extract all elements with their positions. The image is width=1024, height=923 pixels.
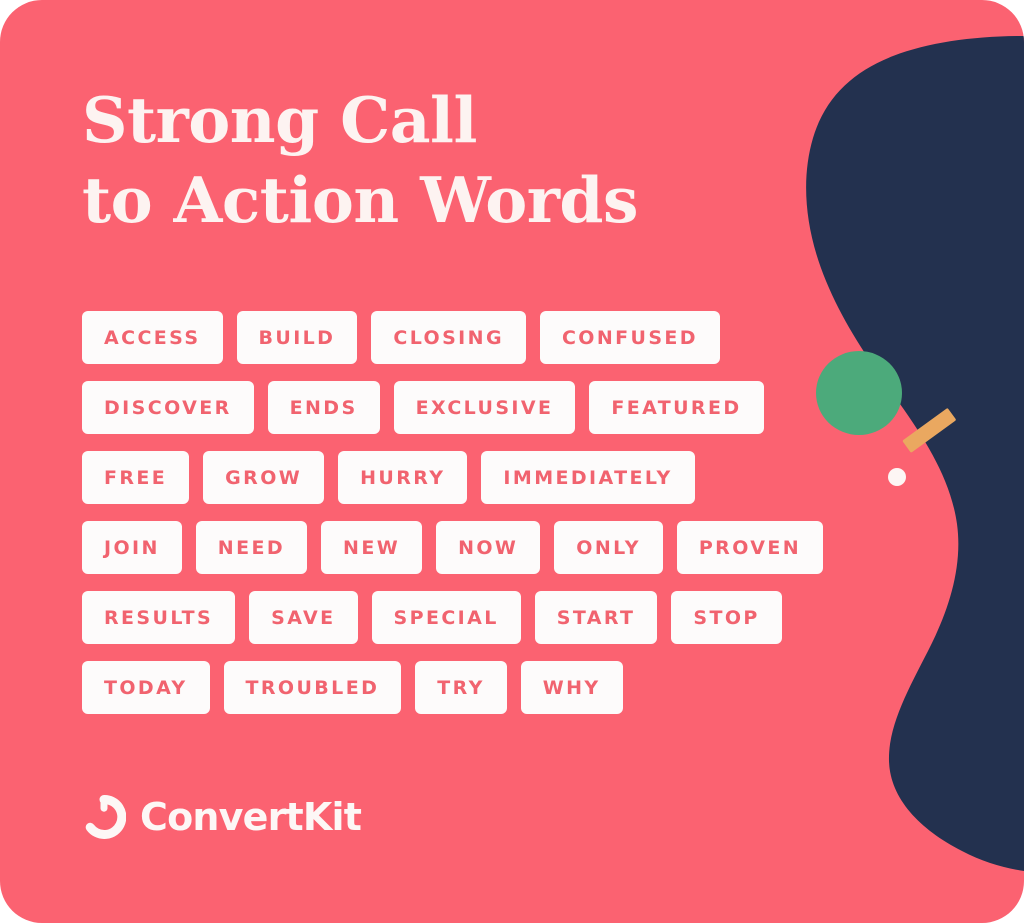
brand-logo: ConvertKit	[82, 795, 361, 839]
word-pill-why[interactable]: WHY	[521, 661, 623, 714]
word-pill-featured[interactable]: FEATURED	[589, 381, 763, 434]
poster-canvas: Strong Call to Action Words ACCESS BUILD…	[0, 0, 1024, 923]
word-pill-now[interactable]: NOW	[436, 521, 540, 574]
word-pill-ends[interactable]: ENDS	[268, 381, 380, 434]
word-row: DISCOVER ENDS EXCLUSIVE FEATURED	[82, 381, 822, 434]
brand-name-label: ConvertKit	[140, 798, 361, 836]
word-pill-access[interactable]: ACCESS	[82, 311, 223, 364]
navy-blob-shape	[806, 36, 1024, 871]
word-row: RESULTS SAVE SPECIAL START STOP	[82, 591, 822, 644]
convertkit-ring-icon	[82, 795, 126, 839]
word-pill-new[interactable]: NEW	[321, 521, 422, 574]
word-pill-confused[interactable]: CONFUSED	[540, 311, 720, 364]
word-pill-grow[interactable]: GROW	[203, 451, 324, 504]
word-pill-stop[interactable]: STOP	[671, 591, 781, 644]
call-to-action-word-grid: ACCESS BUILD CLOSING CONFUSED DISCOVER E…	[82, 311, 822, 731]
word-pill-save[interactable]: SAVE	[249, 591, 357, 644]
word-pill-join[interactable]: JOIN	[82, 521, 182, 574]
orange-stick-shape	[902, 408, 956, 453]
word-pill-troubled[interactable]: TROUBLED	[224, 661, 402, 714]
word-pill-today[interactable]: TODAY	[82, 661, 210, 714]
word-pill-start[interactable]: START	[535, 591, 658, 644]
word-pill-discover[interactable]: DISCOVER	[82, 381, 254, 434]
word-row: FREE GROW HURRY IMMEDIATELY	[82, 451, 822, 504]
word-pill-immediately[interactable]: IMMEDIATELY	[481, 451, 694, 504]
word-pill-need[interactable]: NEED	[196, 521, 307, 574]
word-pill-free[interactable]: FREE	[82, 451, 189, 504]
word-pill-hurry[interactable]: HURRY	[338, 451, 467, 504]
word-pill-closing[interactable]: CLOSING	[371, 311, 526, 364]
word-row: ACCESS BUILD CLOSING CONFUSED	[82, 311, 822, 364]
word-row: JOIN NEED NEW NOW ONLY PROVEN	[82, 521, 822, 574]
page-title: Strong Call to Action Words	[82, 80, 782, 240]
word-pill-proven[interactable]: PROVEN	[677, 521, 823, 574]
word-pill-build[interactable]: BUILD	[237, 311, 358, 364]
word-pill-special[interactable]: SPECIAL	[372, 591, 521, 644]
word-pill-only[interactable]: ONLY	[554, 521, 663, 574]
word-row: TODAY TROUBLED TRY WHY	[82, 661, 822, 714]
word-pill-exclusive[interactable]: EXCLUSIVE	[394, 381, 576, 434]
word-pill-try[interactable]: TRY	[415, 661, 507, 714]
word-pill-results[interactable]: RESULTS	[82, 591, 235, 644]
white-dot-shape	[888, 468, 906, 486]
green-circle-shape	[816, 351, 902, 435]
